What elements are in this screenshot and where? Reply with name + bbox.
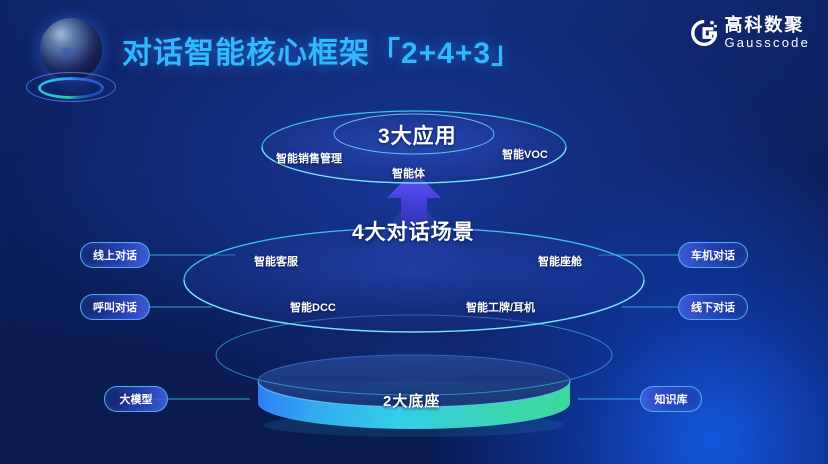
middle-item-0: 智能客服 <box>254 253 298 269</box>
base-glow <box>264 413 564 437</box>
pill-right-knowledge-base[interactable]: 知识库 <box>640 386 702 412</box>
middle-item-3: 智能工牌/耳机 <box>466 299 535 315</box>
pill-left-large-model[interactable]: 大模型 <box>104 386 168 412</box>
middle-item-1: 智能座舱 <box>538 253 582 269</box>
middle-item-2: 智能DCC <box>290 299 336 315</box>
pill-right-vehicle-dialog[interactable]: 车机对话 <box>678 242 748 268</box>
framework-diagram: 3大应用 智能销售管理 智能VOC 智能体 4大对话场景 智能客服 智能座舱 智… <box>0 0 828 464</box>
base-layer-title: 2大底座 <box>383 390 440 411</box>
pill-left-call-dialog[interactable]: 呼叫对话 <box>80 294 150 320</box>
slide-canvas: 对话智能核心框架「2+4+3」 高科数聚 Gausscode <box>0 0 828 464</box>
pill-right-offline-dialog[interactable]: 线下对话 <box>678 294 748 320</box>
pill-left-online-dialog[interactable]: 线上对话 <box>80 242 150 268</box>
top-item-0: 智能销售管理 <box>276 150 342 166</box>
top-layer-title: 3大应用 <box>378 120 457 150</box>
top-item-1: 智能VOC <box>502 146 548 162</box>
middle-layer-title: 4大对话场景 <box>352 216 475 246</box>
agent-label: 智能体 <box>392 165 425 181</box>
